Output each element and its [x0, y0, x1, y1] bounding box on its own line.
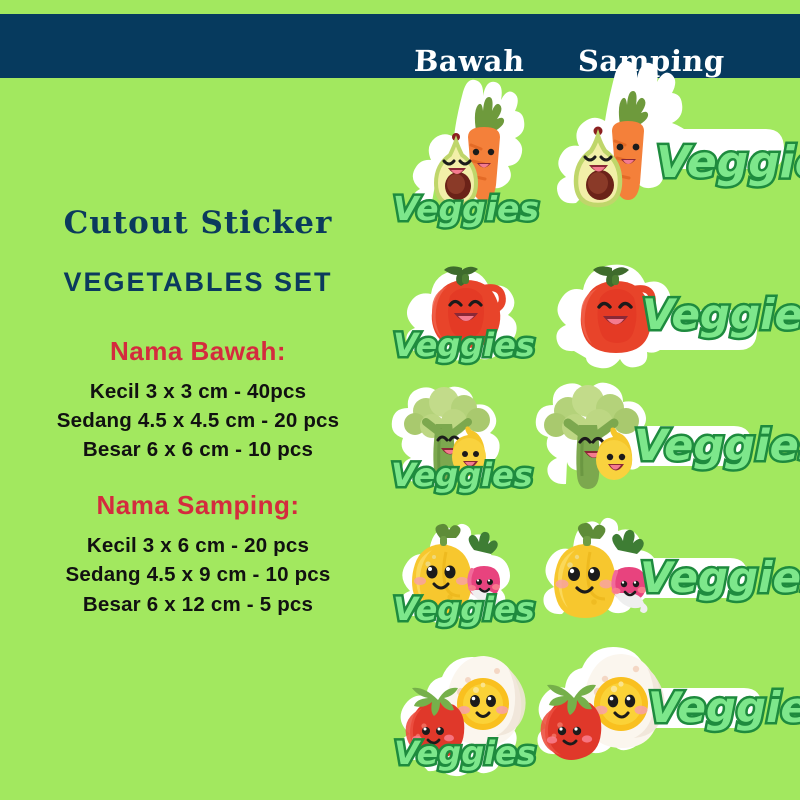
size-group-heading-samping: Nama Samping: — [18, 490, 378, 521]
sticker-samping-tomato-and-egg[interactable]: Veggies — [530, 642, 785, 782]
sticker-bawah-red-bell-pepper[interactable]: Veggies — [388, 250, 543, 375]
wordmark-veggies: Veggies — [642, 290, 800, 339]
wordmark-veggies: Veggies — [393, 326, 535, 364]
wordmark-veggies: Veggies — [648, 683, 800, 732]
size-group-bawah: Nama Bawah: Kecil 3 x 3 cm - 40pcs Sedan… — [18, 336, 378, 464]
sticker-bawah-broccoli-and-lemon[interactable]: Veggies — [382, 378, 542, 503]
size-group-heading-bawah-colon: : — [277, 336, 286, 366]
header-bar: Bawah Samping — [0, 14, 800, 78]
size-group-heading-bawah: Nama Bawah: — [18, 336, 378, 367]
size-group-heading-samping-colon: : — [290, 490, 299, 520]
size-group-heading-samping-text: Nama Samping — [97, 490, 291, 520]
page-subtitle: VEGETABLES SET — [18, 267, 378, 298]
info-panel: Cutout Sticker VEGETABLES SET Nama Bawah… — [18, 205, 378, 645]
size-line: Kecil 3 x 3 cm - 40pcs — [18, 377, 378, 406]
sticker-samping-avocado-and-carrot[interactable]: Veggies — [548, 95, 783, 235]
sticker-bawah-yellow-pepper-and-radish[interactable]: Veggies — [384, 508, 544, 638]
size-group-heading-bawah-text: Nama Bawah — [110, 336, 277, 366]
size-line: Besar 6 x 6 cm - 10 pcs — [18, 435, 378, 464]
column-header-bawah: Bawah — [413, 44, 525, 78]
sticker-samping-yellow-pepper-and-radish[interactable]: Veggies — [536, 512, 786, 637]
wordmark-veggies: Veggies — [634, 421, 800, 471]
sticker-bawah-tomato-and-egg[interactable]: Veggies — [382, 642, 547, 782]
wordmark-veggies: Veggies — [640, 553, 800, 602]
sticker-bawah-avocado-and-carrot[interactable]: Veggies — [386, 95, 546, 240]
size-line: Sedang 4.5 x 4.5 cm - 20 pcs — [18, 406, 378, 435]
wordmark-veggies: Veggies — [656, 137, 800, 188]
size-group-samping: Nama Samping: Kecil 3 x 6 cm - 20 pcs Se… — [18, 490, 378, 618]
wordmark-veggies: Veggies — [394, 734, 536, 772]
sticker-samping-broccoli-and-lemon[interactable]: Veggies — [534, 378, 784, 503]
wordmark-veggies: Veggies — [393, 590, 535, 628]
size-line: Kecil 3 x 6 cm - 20 pcs — [18, 531, 378, 560]
size-line: Sedang 4.5 x 9 cm - 10 pcs — [18, 560, 378, 589]
page-title: Cutout Sticker — [18, 205, 378, 241]
sticker-sheet-canvas: Bawah Samping Cutout Sticker VEGETABLES … — [0, 0, 800, 800]
sticker-samping-red-bell-pepper[interactable]: Veggies — [548, 255, 783, 375]
size-line: Besar 6 x 12 cm - 5 pcs — [18, 590, 378, 619]
wordmark-veggies: Veggies — [391, 456, 533, 494]
wordmark-veggies: Veggies — [393, 189, 539, 228]
